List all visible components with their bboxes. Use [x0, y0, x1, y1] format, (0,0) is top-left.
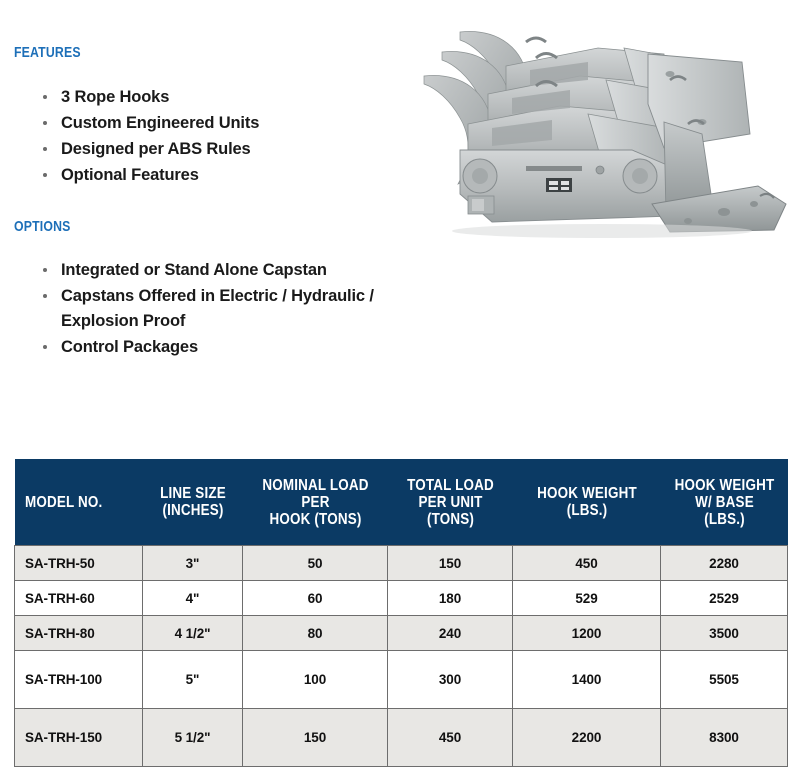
list-item-label: Control Packages: [61, 338, 198, 356]
specifications-table-container: MODEL NO. LINE SIZE (inches) NOMINAL LOA…: [14, 459, 787, 767]
list-item-label: Optional Features: [61, 166, 199, 184]
options-heading: OPTIONS: [14, 218, 71, 235]
list-item: Capstans Offered in Electric / Hydraulic…: [40, 284, 420, 335]
bullet-dot-icon: [43, 345, 47, 349]
table-header: MODEL NO. LINE SIZE (inches) NOMINAL LOA…: [15, 459, 788, 546]
features-list: 3 Rope Hooks Custom Engineered Units Des…: [40, 85, 410, 189]
cell-total-load: 450: [388, 709, 513, 767]
table-header-row: MODEL NO. LINE SIZE (inches) NOMINAL LOA…: [15, 459, 788, 546]
table-row: SA-TRH-80 4 1/2" 80 240 1200 3500: [15, 616, 788, 651]
bullet-dot-icon: [43, 268, 47, 272]
cell-nominal-load: 50: [243, 546, 388, 581]
cell-nominal-load: 100: [243, 651, 388, 709]
list-item-label: Capstans Offered in Electric / Hydraulic…: [61, 287, 374, 330]
cell-nominal-load: 150: [243, 709, 388, 767]
cell-line-size: 5": [143, 651, 243, 709]
cell-hook-weight: 2200: [513, 709, 661, 767]
triple-rope-hook-assembly-photo: [402, 18, 794, 246]
column-header-hook-weight: HOOK WEIGHT (LBS.): [513, 459, 661, 546]
column-header-line-size: LINE SIZE (inches): [143, 459, 243, 546]
cell-model: SA-TRH-80: [15, 616, 143, 651]
cell-nominal-load: 60: [243, 581, 388, 616]
rope-hook-specifications-table: MODEL NO. LINE SIZE (inches) NOMINAL LOA…: [14, 459, 788, 767]
list-item: Designed per ABS Rules: [40, 137, 410, 162]
options-list: Integrated or Stand Alone Capstan Capsta…: [40, 258, 420, 361]
bullet-dot-icon: [43, 173, 47, 177]
cell-hook-weight-with-base: 5505: [661, 651, 788, 709]
list-item-label: Custom Engineered Units: [61, 114, 259, 132]
cell-total-load: 180: [388, 581, 513, 616]
table-body: SA-TRH-50 3" 50 150 450 2280 SA-TRH-60 4…: [15, 546, 788, 767]
list-item-label: 3 Rope Hooks: [61, 88, 169, 106]
list-item: Integrated or Stand Alone Capstan: [40, 258, 420, 283]
cell-total-load: 300: [388, 651, 513, 709]
table-row: SA-TRH-150 5 1/2" 150 450 2200 8300: [15, 709, 788, 767]
cell-hook-weight: 529: [513, 581, 661, 616]
list-item-label: Designed per ABS Rules: [61, 140, 251, 158]
cell-line-size: 4 1/2": [143, 616, 243, 651]
column-header-nominal-load-per-hook: NOMINAL LOAD PER HOOK (TONS): [243, 459, 388, 546]
cell-hook-weight-with-base: 3500: [661, 616, 788, 651]
list-item: Optional Features: [40, 163, 410, 188]
cell-nominal-load: 80: [243, 616, 388, 651]
table-row: SA-TRH-100 5" 100 300 1400 5505: [15, 651, 788, 709]
cell-line-size: 3": [143, 546, 243, 581]
cell-line-size: 5 1/2": [143, 709, 243, 767]
cell-total-load: 150: [388, 546, 513, 581]
list-item-label: Integrated or Stand Alone Capstan: [61, 261, 327, 279]
bullet-dot-icon: [43, 121, 47, 125]
bullet-dot-icon: [43, 294, 47, 298]
cell-hook-weight: 450: [513, 546, 661, 581]
cell-hook-weight-with-base: 2280: [661, 546, 788, 581]
cell-hook-weight-with-base: 8300: [661, 709, 788, 767]
column-header-model-no: MODEL NO.: [15, 459, 143, 546]
table-row: SA-TRH-60 4" 60 180 529 2529: [15, 581, 788, 616]
column-header-hook-weight-with-base: HOOK WEIGHT W/ BASE (LBS.): [661, 459, 788, 546]
cell-model: SA-TRH-150: [15, 709, 143, 767]
bullet-dot-icon: [43, 95, 47, 99]
cell-model: SA-TRH-100: [15, 651, 143, 709]
cell-total-load: 240: [388, 616, 513, 651]
bullet-dot-icon: [43, 147, 47, 151]
list-item: Control Packages: [40, 335, 420, 360]
cell-model: SA-TRH-60: [15, 581, 143, 616]
cell-line-size: 4": [143, 581, 243, 616]
table-row: SA-TRH-50 3" 50 150 450 2280: [15, 546, 788, 581]
cell-hook-weight: 1400: [513, 651, 661, 709]
features-heading: FEATURES: [14, 44, 81, 61]
cell-hook-weight-with-base: 2529: [661, 581, 788, 616]
cell-hook-weight: 1200: [513, 616, 661, 651]
list-item: Custom Engineered Units: [40, 111, 410, 136]
cell-model: SA-TRH-50: [15, 546, 143, 581]
list-item: 3 Rope Hooks: [40, 85, 410, 110]
column-header-total-load-per-unit: TOTAL LOAD PER UNIT (TONS): [388, 459, 513, 546]
